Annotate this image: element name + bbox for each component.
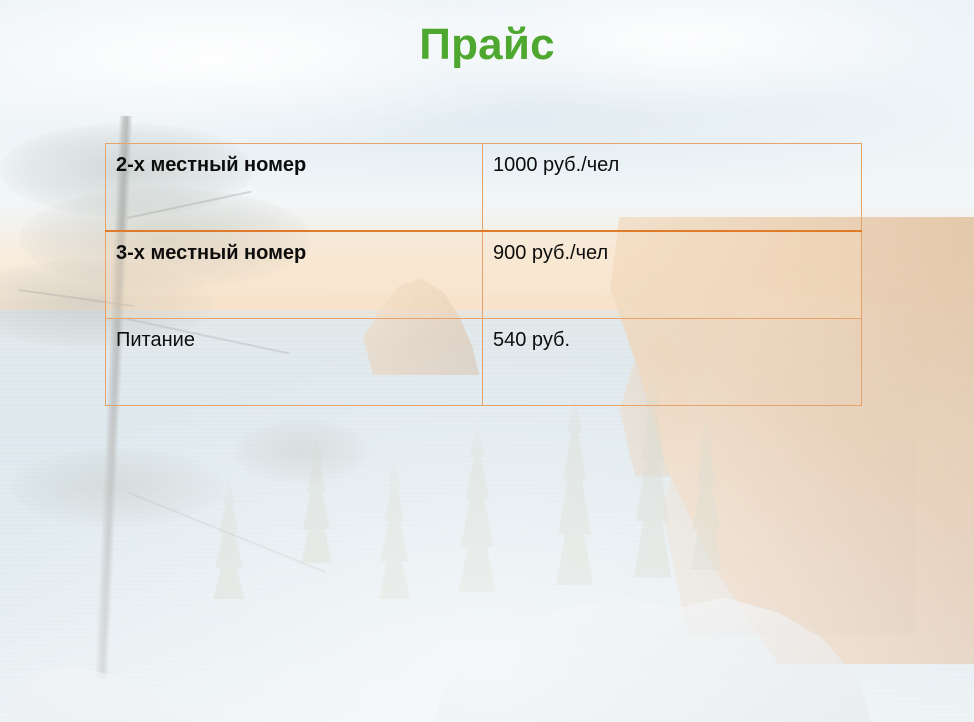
room-type-label: Питание xyxy=(116,329,195,351)
table-row: Питание 540 руб. xyxy=(106,319,862,406)
price-table: 2-х местный номер 1000 руб./чел 3-х мест… xyxy=(105,143,862,406)
room-price-value: 1000 руб./чел xyxy=(493,154,619,176)
slide: Прайс 2-х местный номер 1000 руб./чел 3-… xyxy=(0,0,974,722)
table-cell-value: 540 руб. xyxy=(483,319,862,406)
page-title: Прайс xyxy=(0,21,974,69)
room-price-value: 540 руб. xyxy=(493,329,570,351)
room-type-label: 3-х местный номер xyxy=(116,242,306,264)
table-cell-label: 2-х местный номер xyxy=(106,144,483,232)
table-cell-label: 3-х местный номер xyxy=(106,231,483,319)
table-cell-value: 900 руб./чел xyxy=(483,231,862,319)
room-price-value: 900 руб./чел xyxy=(493,242,608,264)
table-cell-label: Питание xyxy=(106,319,483,406)
table-row: 3-х местный номер 900 руб./чел xyxy=(106,231,862,319)
room-type-label: 2-х местный номер xyxy=(116,154,306,176)
table-cell-value: 1000 руб./чел xyxy=(483,144,862,232)
table-row: 2-х местный номер 1000 руб./чел xyxy=(106,144,862,232)
